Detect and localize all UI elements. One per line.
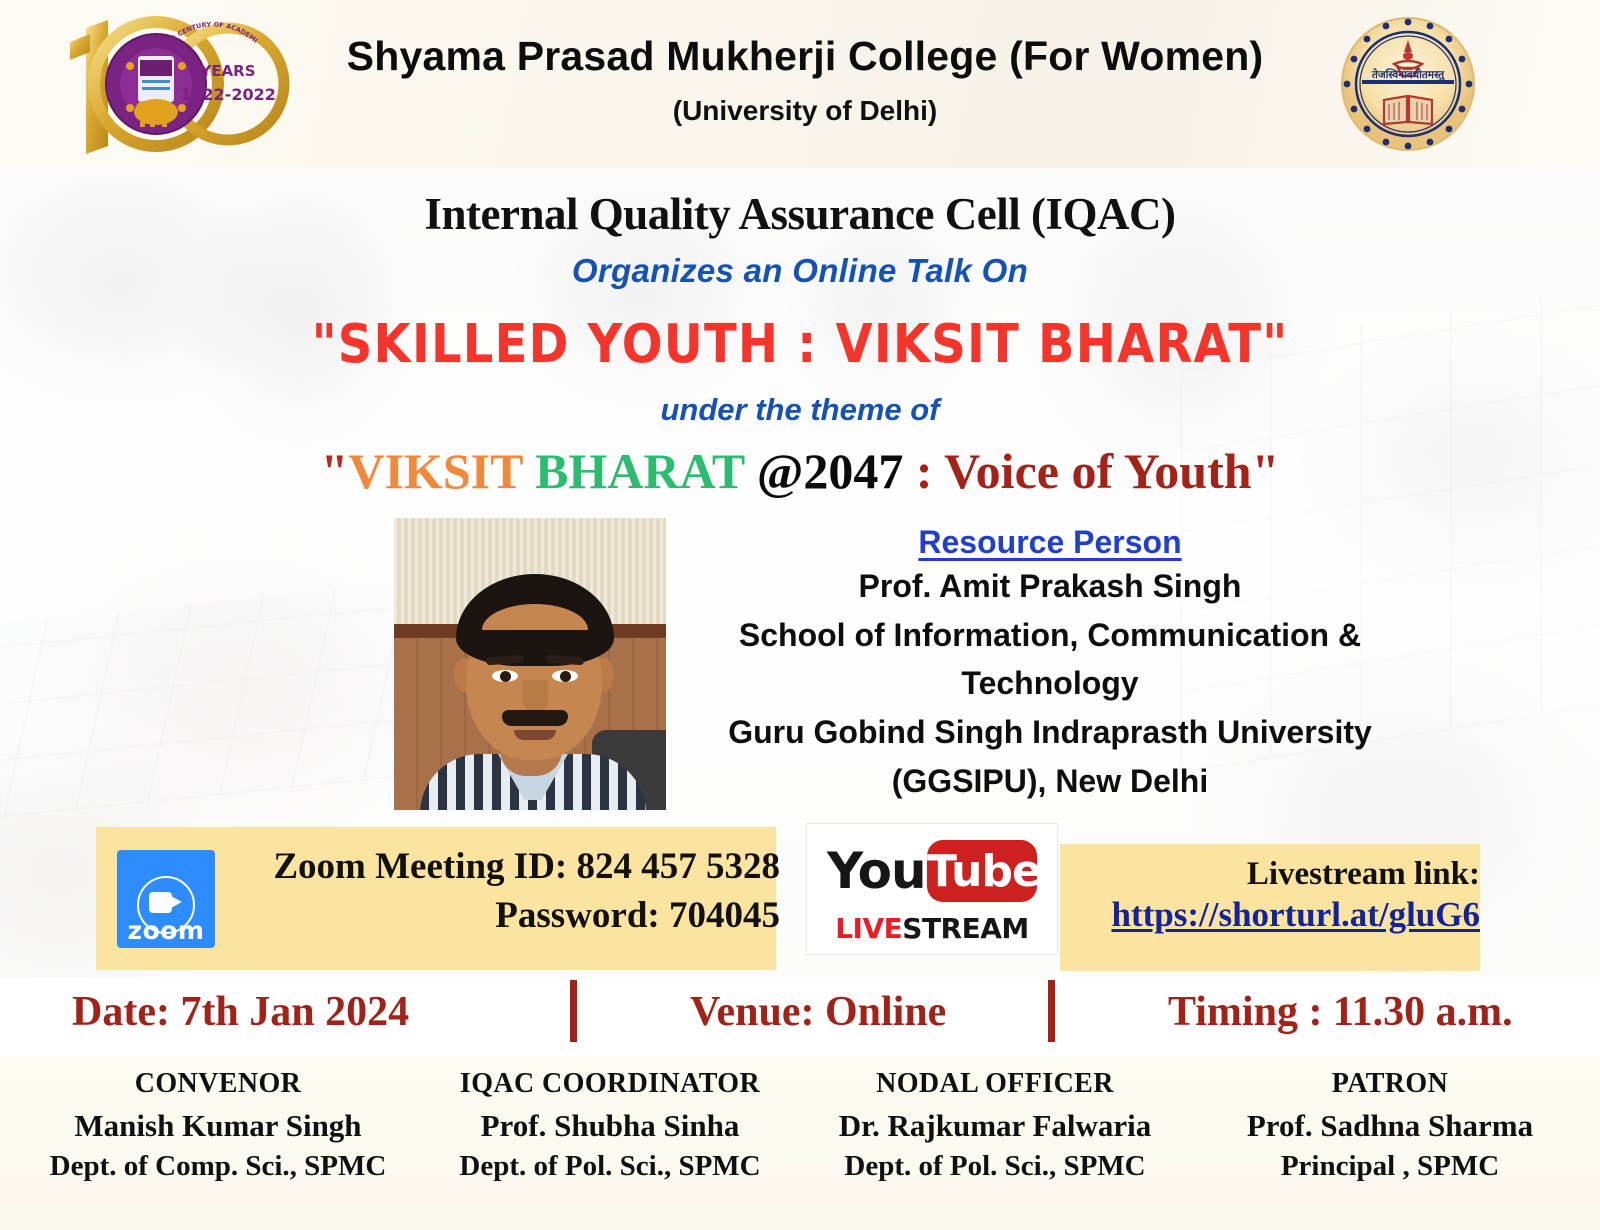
video-camera-icon xyxy=(149,892,183,913)
livestream-live-text: LIVE xyxy=(835,912,902,945)
youtube-tube-badge: Tube xyxy=(927,840,1037,902)
footer-role: CONVENOR xyxy=(18,1068,418,1100)
event-venue: Venue: Online xyxy=(690,988,946,1036)
photo-mouth xyxy=(514,730,556,740)
footer-dept: Dept. of Pol. Sci., SPMC xyxy=(800,1150,1190,1183)
zoom-wordmark: zoom xyxy=(117,916,215,945)
youtube-livestream-logo: You Tube LIVESTREAM xyxy=(806,823,1058,955)
du-centenary-logo: YEARS 1922-2022 A CENTURY OF ACADEMIC EX… xyxy=(60,8,290,160)
du-logo-span: 1922-2022 xyxy=(180,85,276,104)
livestream-stream-text: STREAM xyxy=(902,912,1029,945)
info-divider-1 xyxy=(570,980,577,1042)
resource-person-affiliation-4: (GGSIPU), New Delhi xyxy=(680,758,1420,805)
footer-role: NODAL OFFICER xyxy=(800,1068,1190,1100)
organizes-subtitle: Organizes an Online Talk On xyxy=(0,252,1600,290)
spmc-motto: तेजस्विनावधीतमस्तु xyxy=(1371,68,1445,82)
zoom-meeting-id: Zoom Meeting ID: 824 457 5328 xyxy=(240,845,780,888)
footer-dept: Dept. of Pol. Sci., SPMC xyxy=(420,1150,800,1183)
header-title-block: Shyama Prasad Mukherji College (For Wome… xyxy=(300,36,1310,127)
resource-person-heading: Resource Person xyxy=(680,524,1420,561)
footer-person-iqac-coordinator: IQAC COORDINATOR Prof. Shubha Sinha Dept… xyxy=(420,1068,800,1183)
footer-name: Manish Kumar Singh xyxy=(18,1108,418,1144)
spmc-college-seal: तेजस्विनावधीतमस्तु xyxy=(1338,14,1478,154)
resource-person-name: Prof. Amit Prakash Singh xyxy=(680,563,1420,610)
footer-person-convenor: CONVENOR Manish Kumar Singh Dept. of Com… xyxy=(18,1068,418,1183)
footer-role: PATRON xyxy=(1190,1068,1590,1100)
resource-person-affiliation-1: School of Information, Communication & xyxy=(680,612,1420,659)
photo-moustache xyxy=(502,710,568,726)
theme-open-quote: " xyxy=(321,443,349,499)
info-divider-2 xyxy=(1048,980,1055,1042)
youtube-you-text: You xyxy=(827,842,926,900)
resource-person-block: Resource Person Prof. Amit Prakash Singh… xyxy=(680,524,1420,805)
university-name: (University of Delhi) xyxy=(300,95,1310,127)
zoom-logo: zoom xyxy=(117,850,215,948)
speaker-portrait-photo xyxy=(394,518,666,810)
event-info-row: Date: 7th Jan 2024 Venue: Online Timing … xyxy=(0,978,1600,1056)
theme-bharat: BHARAT xyxy=(535,443,744,499)
footer-name: Prof. Shubha Sinha xyxy=(420,1108,800,1144)
livestream-label: Livestream link: xyxy=(1080,856,1480,893)
du-logo-years: YEARS xyxy=(199,62,255,80)
footer-person-patron: PATRON Prof. Sadhna Sharma Principal , S… xyxy=(1190,1068,1590,1183)
event-date: Date: 7th Jan 2024 xyxy=(72,988,409,1036)
theme-voice: : Voice of Youth xyxy=(916,443,1252,499)
photo-nose xyxy=(522,680,548,714)
resource-person-affiliation-3: Guru Gobind Singh Indraprasth University xyxy=(680,709,1420,756)
livestream-wordmark: LIVESTREAM xyxy=(807,912,1057,945)
photo-pupil-left xyxy=(500,671,511,682)
college-name: Shyama Prasad Mukherji College (For Wome… xyxy=(300,36,1310,77)
poster-footer: CONVENOR Manish Kumar Singh Dept. of Com… xyxy=(0,1056,1600,1230)
footer-person-nodal-officer: NODAL OFFICER Dr. Rajkumar Falwaria Dept… xyxy=(800,1068,1190,1183)
footer-dept: Dept. of Comp. Sci., SPMC xyxy=(18,1150,418,1183)
theme-viksit: VIKSIT xyxy=(348,443,522,499)
youtube-tube-text: Tube xyxy=(927,846,1037,897)
photo-pupil-right xyxy=(560,671,571,682)
livestream-details: Livestream link: https://shorturl.at/glu… xyxy=(1080,856,1480,935)
event-poster: YEARS 1922-2022 A CENTURY OF ACADEMIC EX… xyxy=(0,0,1600,1230)
iqac-title: Internal Quality Assurance Cell (IQAC) xyxy=(0,188,1600,240)
footer-name: Dr. Rajkumar Falwaria xyxy=(800,1108,1190,1144)
poster-header: YEARS 1922-2022 A CENTURY OF ACADEMIC EX… xyxy=(0,0,1600,168)
youtube-wordmark: You Tube xyxy=(807,838,1057,904)
under-theme-label: under the theme of xyxy=(0,392,1600,428)
resource-person-affiliation-2: Technology xyxy=(680,660,1420,707)
theme-at-year: @2047 xyxy=(757,443,904,499)
zoom-details: Zoom Meeting ID: 824 457 5328 Password: … xyxy=(240,845,780,937)
livestream-url-link[interactable]: https://shorturl.at/gluG6 xyxy=(1080,895,1480,935)
event-timing: Timing : 11.30 a.m. xyxy=(1168,988,1513,1036)
zoom-password: Password: 704045 xyxy=(240,894,780,937)
footer-dept: Principal , SPMC xyxy=(1190,1150,1590,1183)
theme-close-quote: " xyxy=(1252,443,1280,499)
talk-title: "SKILLED YOUTH : VIKSIT BHARAT" xyxy=(0,313,1600,376)
footer-role: IQAC COORDINATOR xyxy=(420,1068,800,1100)
footer-name: Prof. Sadhna Sharma xyxy=(1190,1108,1590,1144)
theme-title: "VIKSIT BHARAT @2047 : Voice of Youth" xyxy=(0,442,1600,500)
